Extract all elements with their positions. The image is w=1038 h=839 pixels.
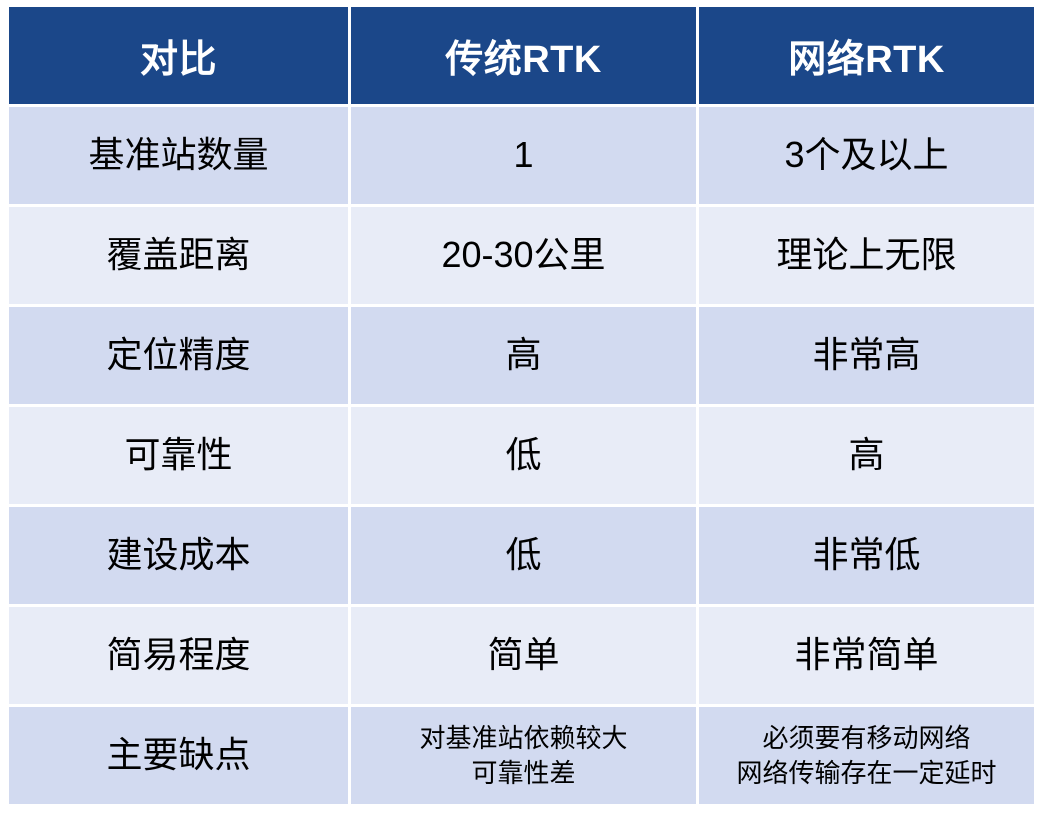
cell-text-line: 对基准站依赖较大 <box>357 721 690 755</box>
table-header-row: 对比 传统RTK 网络RTK <box>9 7 1034 104</box>
cell-traditional-positioning-accuracy: 高 <box>351 307 696 404</box>
cell-text-line: 网络传输存在一定延时 <box>705 756 1028 790</box>
cell-network-base-station-count: 3个及以上 <box>699 107 1034 204</box>
cell-traditional-coverage-distance: 20-30公里 <box>351 207 696 304</box>
cell-label-main-drawbacks: 主要缺点 <box>9 707 348 804</box>
table-row: 建设成本 低 非常低 <box>9 507 1034 604</box>
table-row: 简易程度 简单 非常简单 <box>9 607 1034 704</box>
cell-traditional-main-drawbacks: 对基准站依赖较大 可靠性差 <box>351 707 696 804</box>
cell-label-positioning-accuracy: 定位精度 <box>9 307 348 404</box>
cell-label-reliability: 可靠性 <box>9 407 348 504</box>
cell-network-reliability: 高 <box>699 407 1034 504</box>
cell-network-coverage-distance: 理论上无限 <box>699 207 1034 304</box>
table-row: 基准站数量 1 3个及以上 <box>9 107 1034 204</box>
cell-network-construction-cost: 非常低 <box>699 507 1034 604</box>
column-header-comparison: 对比 <box>9 7 348 104</box>
cell-traditional-base-station-count: 1 <box>351 107 696 204</box>
column-header-traditional-rtk: 传统RTK <box>351 7 696 104</box>
cell-network-main-drawbacks: 必须要有移动网络 网络传输存在一定延时 <box>699 707 1034 804</box>
table-header: 对比 传统RTK 网络RTK <box>9 7 1034 104</box>
cell-network-positioning-accuracy: 非常高 <box>699 307 1034 404</box>
comparison-table-page: 对比 传统RTK 网络RTK 基准站数量 1 3个及以上 覆盖距离 20-30公… <box>0 0 1038 839</box>
rtk-comparison-table: 对比 传统RTK 网络RTK 基准站数量 1 3个及以上 覆盖距离 20-30公… <box>6 4 1037 807</box>
cell-label-construction-cost: 建设成本 <box>9 507 348 604</box>
table-row: 主要缺点 对基准站依赖较大 可靠性差 必须要有移动网络 网络传输存在一定延时 <box>9 707 1034 804</box>
cell-text-line: 可靠性差 <box>357 756 690 790</box>
table-body: 基准站数量 1 3个及以上 覆盖距离 20-30公里 理论上无限 定位精度 高 … <box>9 107 1034 804</box>
table-row: 可靠性 低 高 <box>9 407 1034 504</box>
cell-traditional-reliability: 低 <box>351 407 696 504</box>
cell-label-base-station-count: 基准站数量 <box>9 107 348 204</box>
cell-traditional-construction-cost: 低 <box>351 507 696 604</box>
cell-text-line: 必须要有移动网络 <box>705 721 1028 755</box>
cell-label-coverage-distance: 覆盖距离 <box>9 207 348 304</box>
column-header-network-rtk: 网络RTK <box>699 7 1034 104</box>
table-row: 定位精度 高 非常高 <box>9 307 1034 404</box>
table-row: 覆盖距离 20-30公里 理论上无限 <box>9 207 1034 304</box>
cell-traditional-ease-of-use: 简单 <box>351 607 696 704</box>
cell-network-ease-of-use: 非常简单 <box>699 607 1034 704</box>
cell-label-ease-of-use: 简易程度 <box>9 607 348 704</box>
